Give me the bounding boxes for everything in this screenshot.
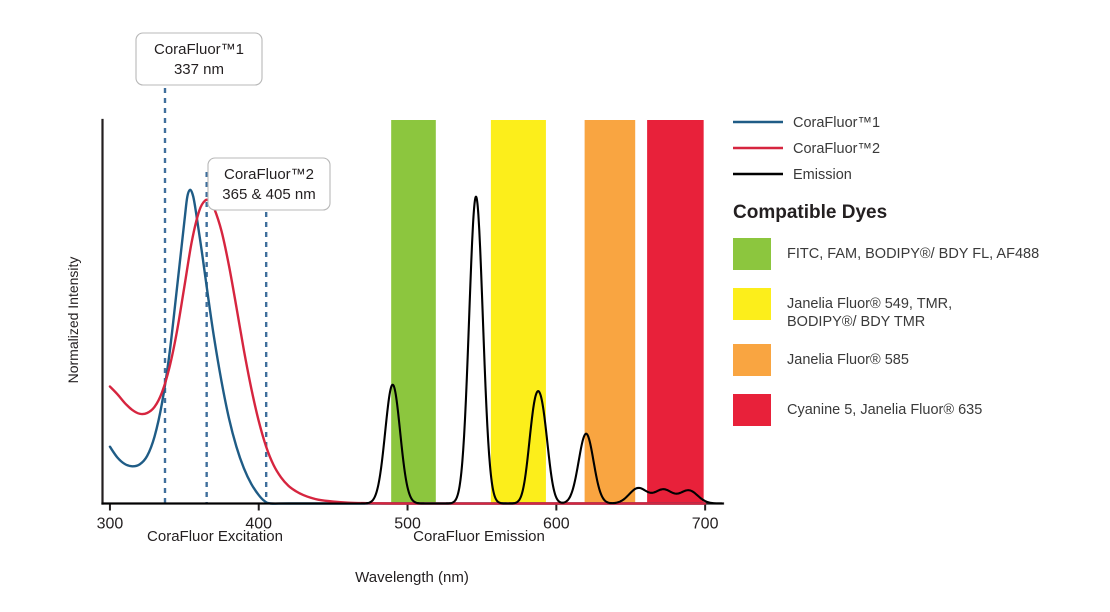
x-tick-label-600: 600 [543, 516, 570, 533]
region-label-excitation: CoraFluor Excitation [147, 528, 283, 545]
dye-swatch-3 [733, 394, 771, 426]
orange-band [585, 120, 636, 504]
dye-label-1-line2: BODIPY®/ BDY TMR [787, 314, 925, 330]
dye-label-1: Janelia Fluor® 549, TMR, [787, 296, 952, 312]
red-band [647, 120, 704, 504]
corafluor2-callout-line2: 365 & 405 nm [222, 186, 315, 203]
corafluor2-callout-line1: CoraFluor™2 [224, 166, 314, 183]
x-tick-label-300: 300 [97, 516, 124, 533]
x-tick-label-700: 700 [692, 516, 719, 533]
legend-label-0: CoraFluor™1 [793, 115, 880, 131]
spectra-figure: 300400500600700 Normalized Intensity Cor… [0, 0, 1110, 612]
dye-label-0: FITC, FAM, BODIPY®/ BDY FL, AF488 [787, 246, 1039, 262]
legend: CoraFluor™1CoraFluor™2Emission [733, 115, 880, 183]
corafluor1-callout-line1: CoraFluor™1 [154, 41, 244, 58]
corafluor1-callout-line2: 337 nm [174, 61, 224, 78]
compatible-dyes-list: FITC, FAM, BODIPY®/ BDY FL, AF488Janelia… [733, 238, 1039, 426]
y-axis-title: Normalized Intensity [65, 257, 81, 384]
region-label-emission: CoraFluor Emission [413, 528, 545, 545]
dye-swatch-0 [733, 238, 771, 270]
compatible-dyes-heading: Compatible Dyes [733, 202, 887, 223]
dye-label-2: Janelia Fluor® 585 [787, 352, 909, 368]
legend-label-2: Emission [793, 167, 852, 183]
green-band [391, 120, 436, 504]
dye-swatch-1 [733, 288, 771, 320]
dye-swatch-2 [733, 344, 771, 376]
x-axis-title: Wavelength (nm) [355, 569, 469, 586]
dye-label-3: Cyanine 5, Janelia Fluor® 635 [787, 402, 982, 418]
marker-lines [165, 88, 266, 504]
yellow-band [491, 120, 546, 504]
legend-label-1: CoraFluor™2 [793, 141, 880, 157]
